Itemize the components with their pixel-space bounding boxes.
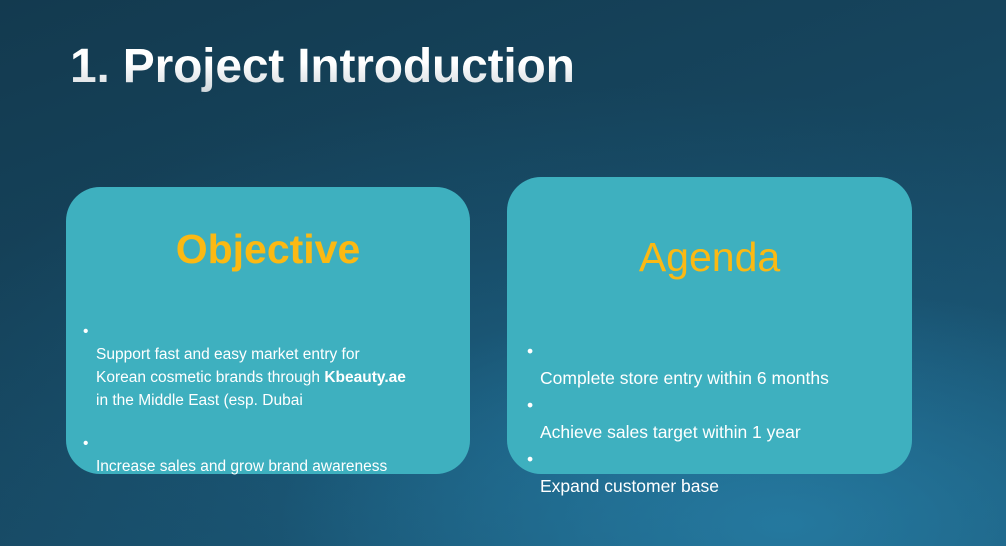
presentation-slide: 1. Project Introduction Objective Suppor… [0, 0, 1006, 546]
card-objective[interactable]: Objective Support fast and easy market e… [66, 187, 470, 474]
bullet-text-lead: Expand customer base [540, 476, 719, 496]
card-agenda[interactable]: Agenda Complete store entry within 6 mon… [507, 177, 912, 474]
bullet-spacer [83, 412, 456, 432]
list-item: Expand customer base [527, 446, 898, 500]
card-agenda-heading: Agenda [507, 237, 912, 278]
list-item: Achieve sales target within 1 year [527, 392, 898, 446]
card-objective-body: Support fast and easy market entry for K… [83, 320, 456, 478]
list-item: Increase sales and grow brand awareness [83, 432, 456, 478]
bullet-text-lead: Increase sales and grow brand awareness [96, 458, 387, 475]
bullet-text-tail: in the Middle East (esp. Dubai [96, 392, 303, 409]
list-item: Support fast and easy market entry for K… [83, 320, 456, 412]
list-item: Complete store entry within 6 months [527, 338, 898, 392]
bullet-text-lead: Achieve sales target within 1 year [540, 422, 801, 442]
bullet-text-lead: Support fast and easy market entry for K… [96, 346, 360, 386]
page-title: 1. Project Introduction [70, 41, 575, 93]
card-objective-heading: Objective [66, 229, 470, 270]
card-agenda-body: Complete store entry within 6 months Ach… [527, 338, 898, 500]
bullet-text-lead: Complete store entry within 6 months [540, 368, 829, 388]
bullet-text-emphasis: Kbeauty.ae [324, 369, 406, 386]
